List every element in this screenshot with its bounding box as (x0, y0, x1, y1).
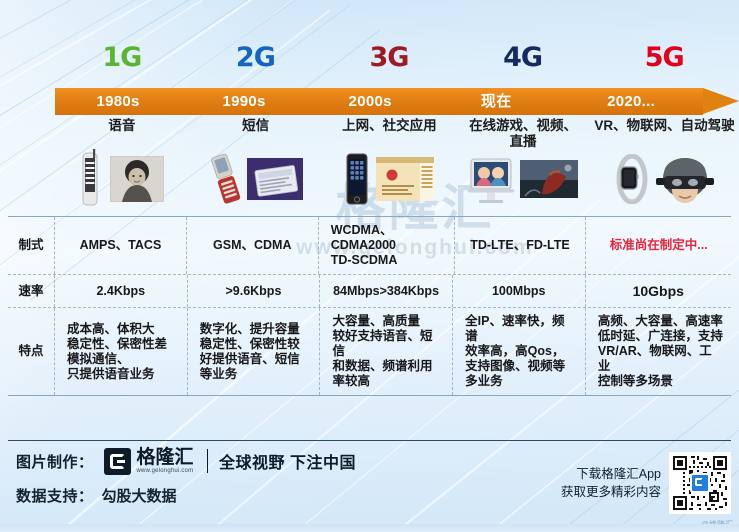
timeline-arrow-bar: 1980s 1990s 2000s 现在 2020... (55, 88, 739, 115)
features-5g: 高频、大容量、高速率 低时延、广连接，支持 VR/AR、物联网、工业 控制等多场… (586, 308, 731, 395)
timeline-era-labels: 1980s 1990s 2000s 现在 2020... (55, 88, 703, 115)
era-label-5g: 2020... (559, 88, 703, 115)
table-row-rate: 速率 2.4Kbps >9.6Kbps 84Mbps>384Kbps 100Mb… (8, 275, 731, 308)
live-stream-photo (467, 155, 515, 203)
qr-caption-line1: 下载格隆汇App (561, 465, 661, 483)
generation-label-3g: 3G (322, 36, 456, 86)
timeline-arrow-head-icon (703, 88, 739, 114)
footer-slogan: 全球视野 下注中国 (219, 449, 356, 473)
web-portal-photo (376, 157, 434, 201)
standard-1g: AMPS、TACS (55, 217, 187, 274)
era-label-4g: 现在 (433, 88, 559, 115)
brick-phone-photo (79, 149, 105, 209)
bottom-strip (0, 524, 739, 532)
features-3g: 大容量、高质量 较好支持语音、短信 和数据、频谱利用 率较高 (320, 308, 453, 395)
sms-screen-photo (247, 158, 303, 200)
footer-divider (8, 440, 731, 441)
infographic-canvas: 格隆汇 www.gelonghui.com 1G 2G 3G 4G 5G 198… (0, 0, 739, 532)
rate-2g: >9.6Kbps (188, 275, 321, 307)
rate-5g: 10Gbps (586, 275, 732, 307)
table-row-features: 特点 成本高、体积大 稳定性、保密性差 模拟通信、 只提供语音业务 数字化、提升… (8, 308, 731, 395)
qr-code-image[interactable] (669, 452, 731, 514)
generation-label-row: 1G 2G 3G 4G 5G (55, 36, 739, 86)
rate-1g: 2.4Kbps (55, 275, 188, 307)
generation-label-4g: 4G (456, 36, 590, 86)
footer-data-value: 勾股大数据 (102, 485, 177, 506)
device-photos-4g (456, 146, 590, 212)
generation-label-2g: 2G (189, 36, 323, 86)
qr-caption-line2: 获取更多精彩内容 (561, 483, 661, 501)
standard-5g: 标准尚在制定中... (586, 217, 731, 274)
gelonghui-logo-icon (104, 448, 131, 475)
vr-headset-photo (655, 154, 715, 204)
rate-4g: 100Mbps (453, 275, 586, 307)
smartphone-photo (343, 153, 371, 205)
row-label-standard: 制式 (8, 217, 55, 274)
flip-phone-photo (208, 153, 242, 205)
era-label-1g: 1980s (55, 88, 181, 115)
era-label-2g: 1990s (181, 88, 307, 115)
features-4g: 全IP、速率快，频谱 效率高，高Qos， 支持图像、视频等 多业务 (453, 308, 586, 395)
brand-name: 格隆汇 (137, 448, 194, 467)
device-photos-1g (55, 146, 189, 212)
qr-caption: 下载格隆汇App 获取更多精彩内容 (561, 465, 661, 501)
footer-data-label: 数据支持： (16, 485, 94, 506)
smartwatch-photo (614, 154, 650, 204)
row-label-features: 特点 (8, 308, 55, 395)
device-photo-row (55, 146, 739, 212)
qr-download-block[interactable]: 下载格隆汇App 获取更多精彩内容 (561, 452, 731, 514)
standard-2g: GSM、CDMA (187, 217, 319, 274)
row-label-rate: 速率 (8, 275, 55, 307)
device-photos-3g (322, 146, 456, 212)
generation-label-1g: 1G (55, 36, 189, 86)
gelonghui-logo-text: 格隆汇 www.gelonghui.com (137, 448, 194, 475)
standard-3g: WCDMA、CDMA2000 TD-SCDMA (319, 217, 455, 274)
qr-center-brand-icon (690, 473, 710, 493)
rate-3g: 84Mbps>384Kbps (320, 275, 453, 307)
table-row-standard: 制式 AMPS、TACS GSM、CDMA WCDMA、CDMA2000 TD-… (8, 217, 731, 275)
game-scene-photo (520, 160, 578, 198)
generation-label-5g: 5G (589, 36, 739, 86)
brand-url: www.gelonghui.com (137, 467, 194, 475)
footer-separator (207, 449, 209, 473)
features-2g: 数字化、提升容量 稳定性、保密性较 好提供语音、短信 等业务 (188, 308, 321, 395)
device-photos-2g (189, 146, 323, 212)
footer-credit-label: 图片制作： (16, 451, 94, 472)
standard-4g: TD-LTE、FD-LTE (455, 217, 587, 274)
era-label-3g: 2000s (307, 88, 433, 115)
features-1g: 成本高、体积大 稳定性、保密性差 模拟通信、 只提供语音业务 (55, 308, 188, 395)
device-photos-5g (589, 146, 739, 212)
retro-caller-photo (110, 156, 164, 202)
comparison-table: 制式 AMPS、TACS GSM、CDMA WCDMA、CDMA2000 TD-… (8, 216, 731, 396)
